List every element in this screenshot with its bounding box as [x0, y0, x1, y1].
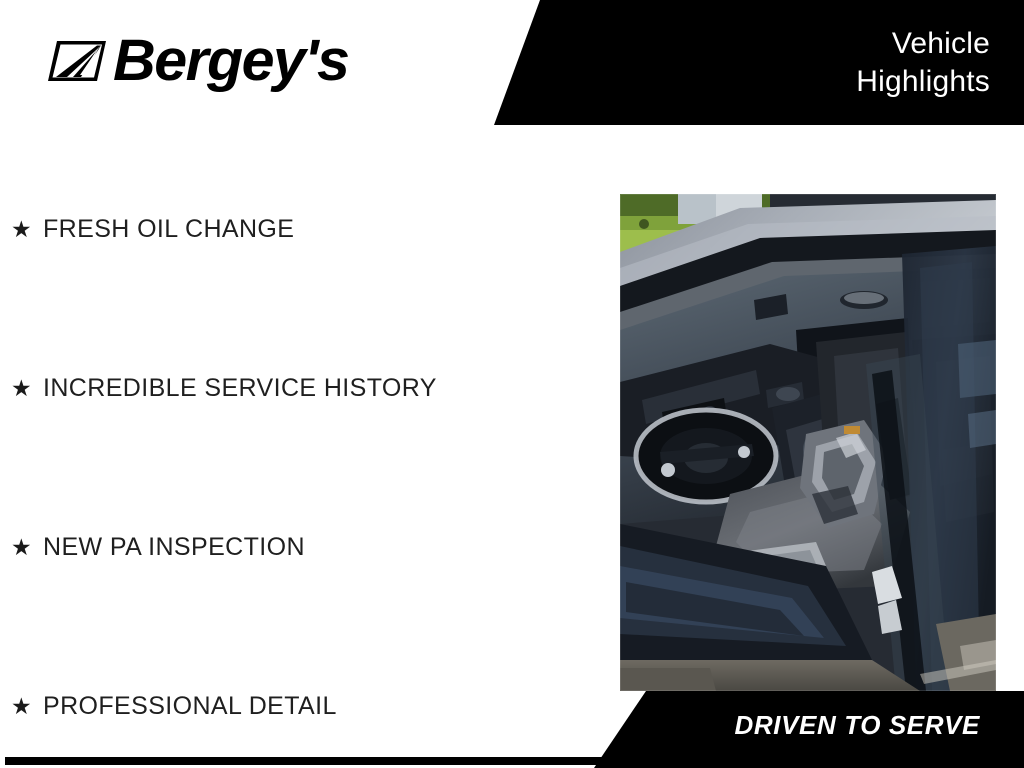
- star-icon: ★: [11, 536, 43, 559]
- list-item: ★ FRESH OIL CHANGE: [0, 150, 600, 309]
- footer-tagline: DRIVEN TO SERVE: [735, 710, 980, 741]
- brand-wordmark: Bergey's: [113, 32, 348, 90]
- vehicle-interior-photo: [620, 194, 996, 691]
- list-item-label: PROFESSIONAL DETAIL: [43, 692, 337, 721]
- list-item-label: NEW PA INSPECTION: [43, 533, 305, 562]
- list-item-label: FRESH OIL CHANGE: [43, 215, 294, 244]
- footer-rule: [5, 757, 641, 765]
- star-icon: ★: [11, 218, 43, 241]
- star-icon: ★: [11, 377, 43, 400]
- list-item: ★ PROFESSIONAL DETAIL: [0, 627, 600, 768]
- vehicle-highlights-slide: Vehicle Highlights Bergey's ★ FRESH OIL …: [0, 0, 1024, 768]
- brand-logo: Bergey's: [47, 28, 344, 94]
- page-title: Vehicle Highlights: [590, 25, 990, 101]
- highlights-list: ★ FRESH OIL CHANGE ★ INCREDIBLE SERVICE …: [0, 150, 600, 768]
- bergeys-arrow-mark-icon: [47, 39, 107, 83]
- list-item: ★ INCREDIBLE SERVICE HISTORY: [0, 309, 600, 468]
- vehicle-interior-photo-graphic: [620, 194, 996, 691]
- list-item-label: INCREDIBLE SERVICE HISTORY: [43, 374, 437, 403]
- list-item: ★ NEW PA INSPECTION: [0, 468, 600, 627]
- star-icon: ★: [11, 695, 43, 718]
